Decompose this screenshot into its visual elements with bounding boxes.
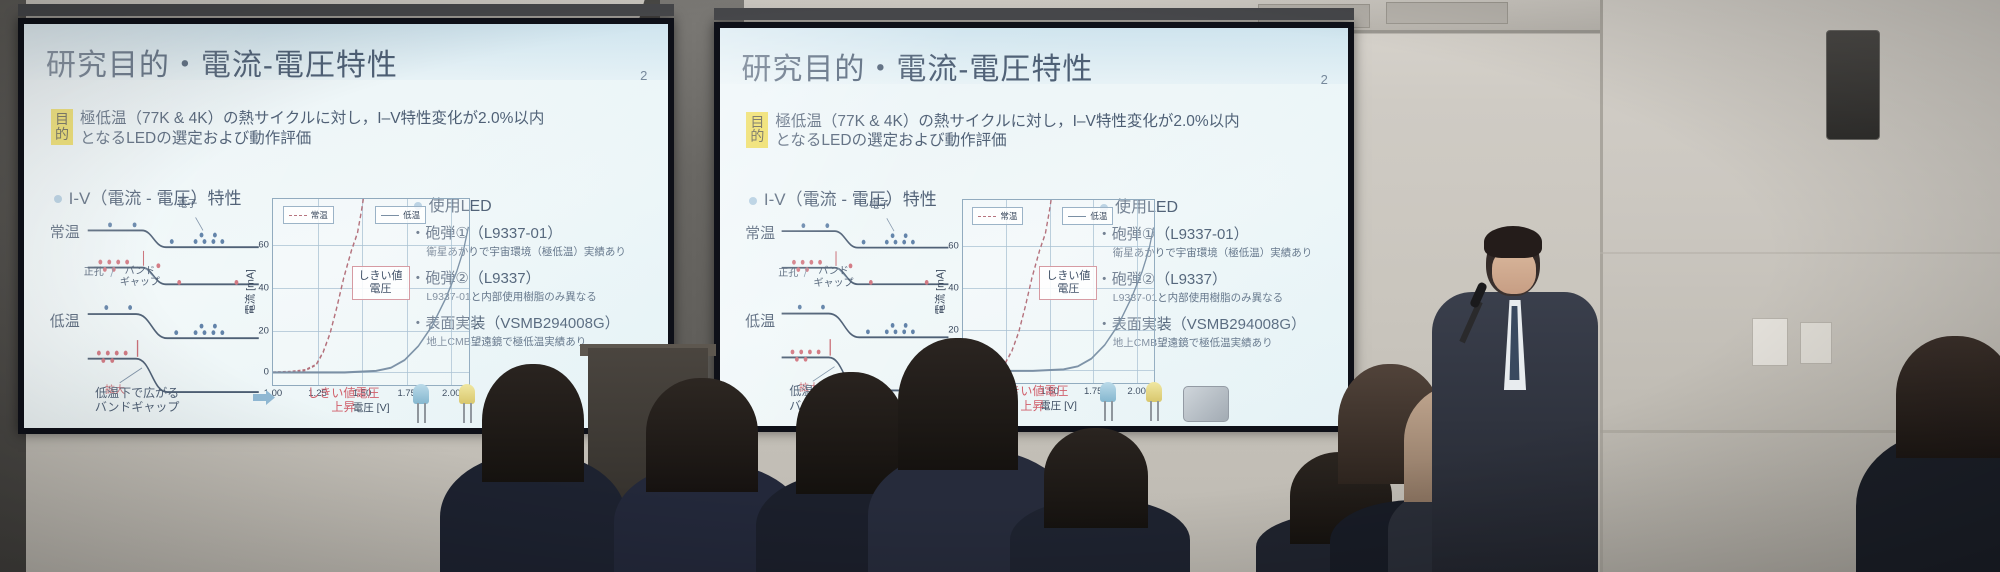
band-label-cold: 低温 <box>50 314 80 329</box>
label-bandgap: バンド ギャップ <box>813 266 853 289</box>
callout-line2: 電圧 <box>1046 283 1090 296</box>
led-photo-smd <box>1183 386 1229 422</box>
y-tick-label: 20 <box>258 325 269 336</box>
bottom-left-note-line2: バンドギャップ <box>95 400 180 414</box>
objective-badge-line2: 的 <box>55 127 69 142</box>
led-photo-bullet-1 <box>404 384 438 424</box>
threshold-voltage-callout: しきい値 電圧 <box>1039 266 1097 300</box>
projection-screen-right: 研究目的・電流-電圧特性 2 目 的 極低温（77K & 4K）の熱サイクルに対… <box>714 22 1354 432</box>
label-bandgap-line2: ギャップ <box>120 277 160 289</box>
objective-badge-line1: 目 <box>55 112 69 127</box>
led-leg <box>1150 401 1152 421</box>
led-leg <box>463 403 465 423</box>
objective-block: 目 的 極低温（77K & 4K）の熱サイクルに対し，I–V特性変化が2.0%以… <box>51 109 649 149</box>
iv-chart: 60 40 20 0 電流 [mA] 1.00 1.25 1.50 1.75 2… <box>272 198 470 386</box>
y-tick-label: 60 <box>948 240 959 251</box>
led-leg <box>1111 401 1113 421</box>
bottom-right-note-line1: しきい値電圧 <box>307 386 379 400</box>
objective-badge-line2: 的 <box>750 129 764 144</box>
label-bandgap-line1: バンド <box>120 266 160 278</box>
led-product-photos <box>1091 370 1342 422</box>
callout-line1: しきい値 <box>1046 270 1090 283</box>
screen-top-bar-left <box>18 4 674 16</box>
label-bandgap-line1: バンド <box>813 266 853 278</box>
wall-speaker <box>1826 30 1880 140</box>
bullet-dot-icon <box>749 197 757 205</box>
legend-label: 常温 <box>311 209 328 221</box>
audience-head <box>1044 428 1148 528</box>
led-leg <box>1157 401 1159 421</box>
led-leg <box>424 403 426 423</box>
bottom-left-note: 低温下で広がる バンドギャップ <box>95 386 180 415</box>
chart-y-axis-title: 電流 [mA] <box>242 269 257 315</box>
threshold-voltage-callout: しきい値 電圧 <box>352 266 410 300</box>
y-tick-label: 20 <box>948 325 959 336</box>
led-photo-bullet-2 <box>1137 382 1171 422</box>
led-dome <box>1146 382 1162 402</box>
band-label-cold: 低温 <box>745 314 775 329</box>
label-hole: 正孔 <box>84 267 104 279</box>
band-diagram: 常温 低温 <box>50 210 263 396</box>
legend-line-icon <box>381 215 399 216</box>
bottom-right-note-line2: 上昇 <box>307 400 379 414</box>
led-dome <box>413 384 429 404</box>
projection-screen-left: 研究目的・電流-電圧特性 2 目 的 極低温（77K & 4K）の熱サイクルに対… <box>18 18 674 434</box>
slide-title: 研究目的・電流-電圧特性 <box>741 44 1093 88</box>
slide-right: 研究目的・電流-電圧特性 2 目 的 極低温（77K & 4K）の熱サイクルに対… <box>720 28 1348 426</box>
right-wall-edge <box>1600 0 1603 572</box>
led-photo-bullet-1 <box>1091 382 1125 422</box>
label-electron: 電子 <box>869 200 889 212</box>
bottom-right-note: しきい値電圧 上昇 <box>307 386 379 415</box>
label-hole: 正孔 <box>778 268 798 280</box>
label-bandgap: バンド ギャップ <box>120 266 160 289</box>
legend-entry-warm: 常温 <box>283 206 334 224</box>
band-label-warm: 常温 <box>50 225 80 240</box>
objective-text: 極低温（77K & 4K）の熱サイクルに対し，I–V特性変化が2.0%以内 とな… <box>775 112 1239 152</box>
y-tick-label: 60 <box>258 240 269 251</box>
band-label-warm-text: 常温 <box>745 226 775 241</box>
ceiling-vent-secondary <box>1386 2 1508 24</box>
legend-line-icon <box>1068 216 1086 217</box>
label-bandgap-line2: ギャップ <box>813 278 853 290</box>
objective-badge: 目 的 <box>51 109 73 145</box>
band-label-cold-text: 低温 <box>50 314 80 329</box>
lecture-hall-photo: 研究目的・電流-電圧特性 2 目 的 極低温（77K & 4K）の熱サイクルに対… <box>0 0 2000 572</box>
bullet-dot-icon <box>54 195 62 203</box>
callout-line2: 電圧 <box>359 283 403 296</box>
led-dome <box>459 384 475 404</box>
legend-entry-cold: 低温 <box>1062 207 1113 225</box>
arrow-right-icon <box>253 390 275 405</box>
wall-switch-plate <box>1752 318 1788 366</box>
legend-label: 常温 <box>1000 210 1017 222</box>
y-tick-label: 40 <box>948 283 959 294</box>
legend-label: 低温 <box>403 209 420 221</box>
objective-line1: 極低温（77K & 4K）の熱サイクルに対し，I–V特性変化が2.0%以内 <box>80 109 544 129</box>
wall-outlet-plate <box>1800 322 1832 364</box>
audience-head <box>646 378 758 492</box>
slide-page-number: 2 <box>1321 72 1328 87</box>
legend-label: 低温 <box>1090 210 1107 222</box>
legend-entry-warm: 常温 <box>972 207 1023 225</box>
audience-head <box>898 338 1018 470</box>
band-label-warm-text: 常温 <box>50 225 80 240</box>
objective-line2: となるLEDの選定および動作評価 <box>80 129 544 149</box>
audience-head <box>482 364 584 482</box>
objective-badge-line1: 目 <box>750 115 764 130</box>
iv-heading-label: I-V（電流 - 電圧）特性 <box>764 190 937 209</box>
led-leg <box>417 403 419 423</box>
bottom-left-note-line1: 低温下で広がる <box>95 386 180 400</box>
legend-entry-cold: 低温 <box>375 206 426 224</box>
screen-top-bar-right <box>714 8 1354 20</box>
objective-line2: となるLEDの選定および動作評価 <box>775 131 1239 151</box>
slide-page-number: 2 <box>640 68 647 83</box>
y-tick-label: 40 <box>258 282 269 293</box>
presenter-hair <box>1484 226 1542 258</box>
legend-line-icon <box>978 216 996 217</box>
chart-y-axis-title: 電流 [mA] <box>932 269 947 315</box>
label-electron: 電子 <box>177 199 197 211</box>
callout-line1: しきい値 <box>359 270 403 283</box>
iv-section-heading: I-V（電流 - 電圧）特性 <box>54 184 242 209</box>
objective-block: 目 的 極低温（77K & 4K）の熱サイクルに対し，I–V特性変化が2.0%以… <box>746 112 1329 152</box>
led-dome <box>1100 382 1116 402</box>
slide-title: 研究目的・電流-電圧特性 <box>46 40 398 84</box>
band-diagram-svg <box>84 210 263 396</box>
y-tick-label: 0 <box>264 366 269 377</box>
led-photo-bullet-2 <box>450 384 484 424</box>
wall-moulding <box>1600 252 2000 254</box>
objective-text: 極低温（77K & 4K）の熱サイクルに対し，I–V特性変化が2.0%以内 とな… <box>80 109 544 149</box>
objective-line1: 極低温（77K & 4K）の熱サイクルに対し，I–V特性変化が2.0%以内 <box>775 112 1239 132</box>
iv-heading-label: I-V（電流 - 電圧）特性 <box>69 189 242 208</box>
band-label-cold-text: 低温 <box>745 314 775 329</box>
objective-badge: 目 的 <box>746 112 768 148</box>
audience-head <box>1896 336 2000 458</box>
band-label-warm: 常温 <box>745 226 775 241</box>
led-leg <box>470 403 472 423</box>
led-leg <box>1104 401 1106 421</box>
legend-line-icon <box>289 215 307 216</box>
iv-section-heading: I-V（電流 - 電圧）特性 <box>749 185 937 210</box>
slide-left: 研究目的・電流-電圧特性 2 目 的 極低温（77K & 4K）の熱サイクルに対… <box>24 24 668 428</box>
